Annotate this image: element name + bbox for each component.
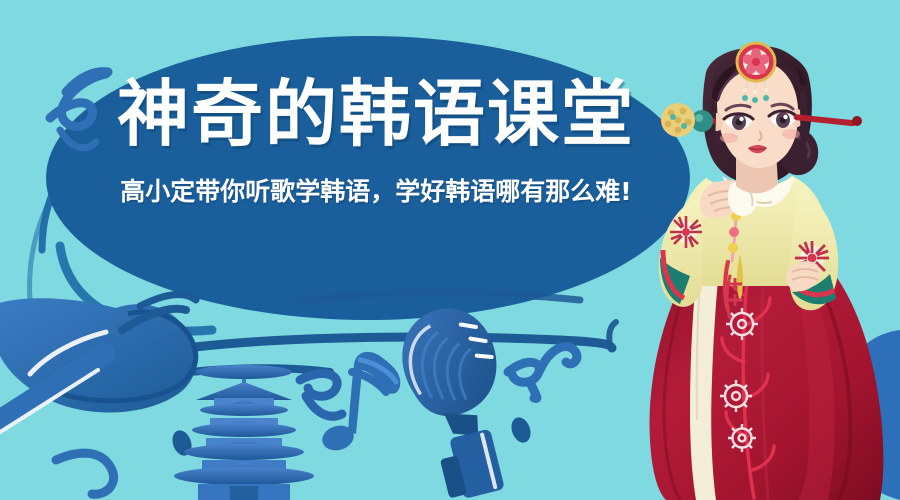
hanbok-girl-illustration [0,0,900,500]
banner-root: 神奇的韩语课堂 高小定带你听歌学韩语，学好韩语哪有那么难! [0,0,900,500]
character-head [660,43,862,193]
sleeve-embroidery-left [670,216,702,248]
flower-hair-ornament [737,43,775,81]
